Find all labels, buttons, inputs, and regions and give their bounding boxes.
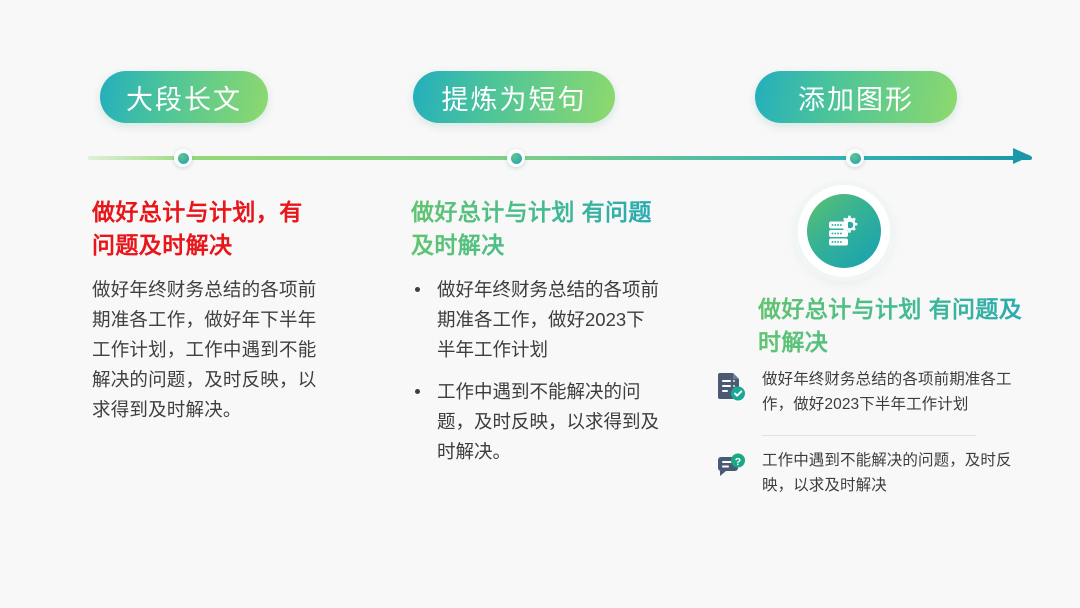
column-2-bullet-list: 做好年终财务总结的各项前期准各工作，做好2023下半年工作计划 工作中遇到不能解… <box>411 275 661 467</box>
step-pill-3-label: 添加图形 <box>798 78 914 117</box>
circle-badge <box>798 185 890 277</box>
column-3-detail-list: 做好年终财务总结的各项前期准各工作，做好2023下半年工作计划 ? 工 <box>710 367 1040 508</box>
detail-text-2: 工作中遇到不能解决的问题，及时反映，以求及时解决 <box>762 448 1040 498</box>
timeline-axis <box>88 154 1033 162</box>
column-1-body: 做好年终财务总结的各项前期准各工作，做好年下半年工作计划，工作中遇到不能解决的问… <box>92 275 324 425</box>
detail-row-2: ? 工作中遇到不能解决的问题，及时反映，以求及时解决 <box>710 448 1040 508</box>
timeline-arrow-icon <box>1013 148 1031 164</box>
column-1-heading: 做好总计与计划，有问题及时解决 <box>92 196 324 261</box>
column-3-heading: 做好总计与计划 有问题及时解决 <box>758 293 1038 358</box>
slide-canvas: 大段长文 提炼为短句 添加图形 做好总计与计划，有问题及时解决 做好年终财务总结… <box>0 0 1080 608</box>
step-pill-1-label: 大段长文 <box>126 78 242 117</box>
step-pill-1[interactable]: 大段长文 <box>100 71 268 123</box>
chat-question-icon: ? <box>714 450 748 484</box>
server-gear-icon <box>807 194 881 268</box>
timeline-dot-2[interactable] <box>507 149 525 167</box>
column-2-heading: 做好总计与计划 有问题及时解决 <box>411 196 661 261</box>
column-long-text: 做好总计与计划，有问题及时解决 做好年终财务总结的各项前期准各工作，做好年下半年… <box>92 196 324 425</box>
document-check-icon <box>714 369 748 403</box>
detail-divider <box>762 435 976 436</box>
step-pill-2-label: 提炼为短句 <box>442 78 587 117</box>
list-item: 做好年终财务总结的各项前期准各工作，做好2023下半年工作计划 <box>411 275 661 365</box>
detail-row-1: 做好年终财务总结的各项前期准各工作，做好2023下半年工作计划 <box>710 367 1040 427</box>
timeline-dot-3[interactable] <box>846 149 864 167</box>
step-pill-2[interactable]: 提炼为短句 <box>413 71 615 123</box>
column-2-heading-wrap: 做好总计与计划 有问题及时解决 <box>411 196 661 261</box>
step-pill-3[interactable]: 添加图形 <box>755 71 957 123</box>
timeline-line <box>88 156 1032 160</box>
column-short-sentences: 做好总计与计划 有问题及时解决 做好年终财务总结的各项前期准各工作，做好2023… <box>411 196 661 479</box>
detail-text-1: 做好年终财务总结的各项前期准各工作，做好2023下半年工作计划 <box>762 367 1040 417</box>
column-3-heading-wrap: 做好总计与计划 有问题及时解决 <box>758 293 1038 358</box>
svg-text:?: ? <box>735 456 741 468</box>
timeline-dot-1[interactable] <box>174 149 192 167</box>
list-item: 工作中遇到不能解决的问题，及时反映，以求得到及时解决。 <box>411 377 661 467</box>
